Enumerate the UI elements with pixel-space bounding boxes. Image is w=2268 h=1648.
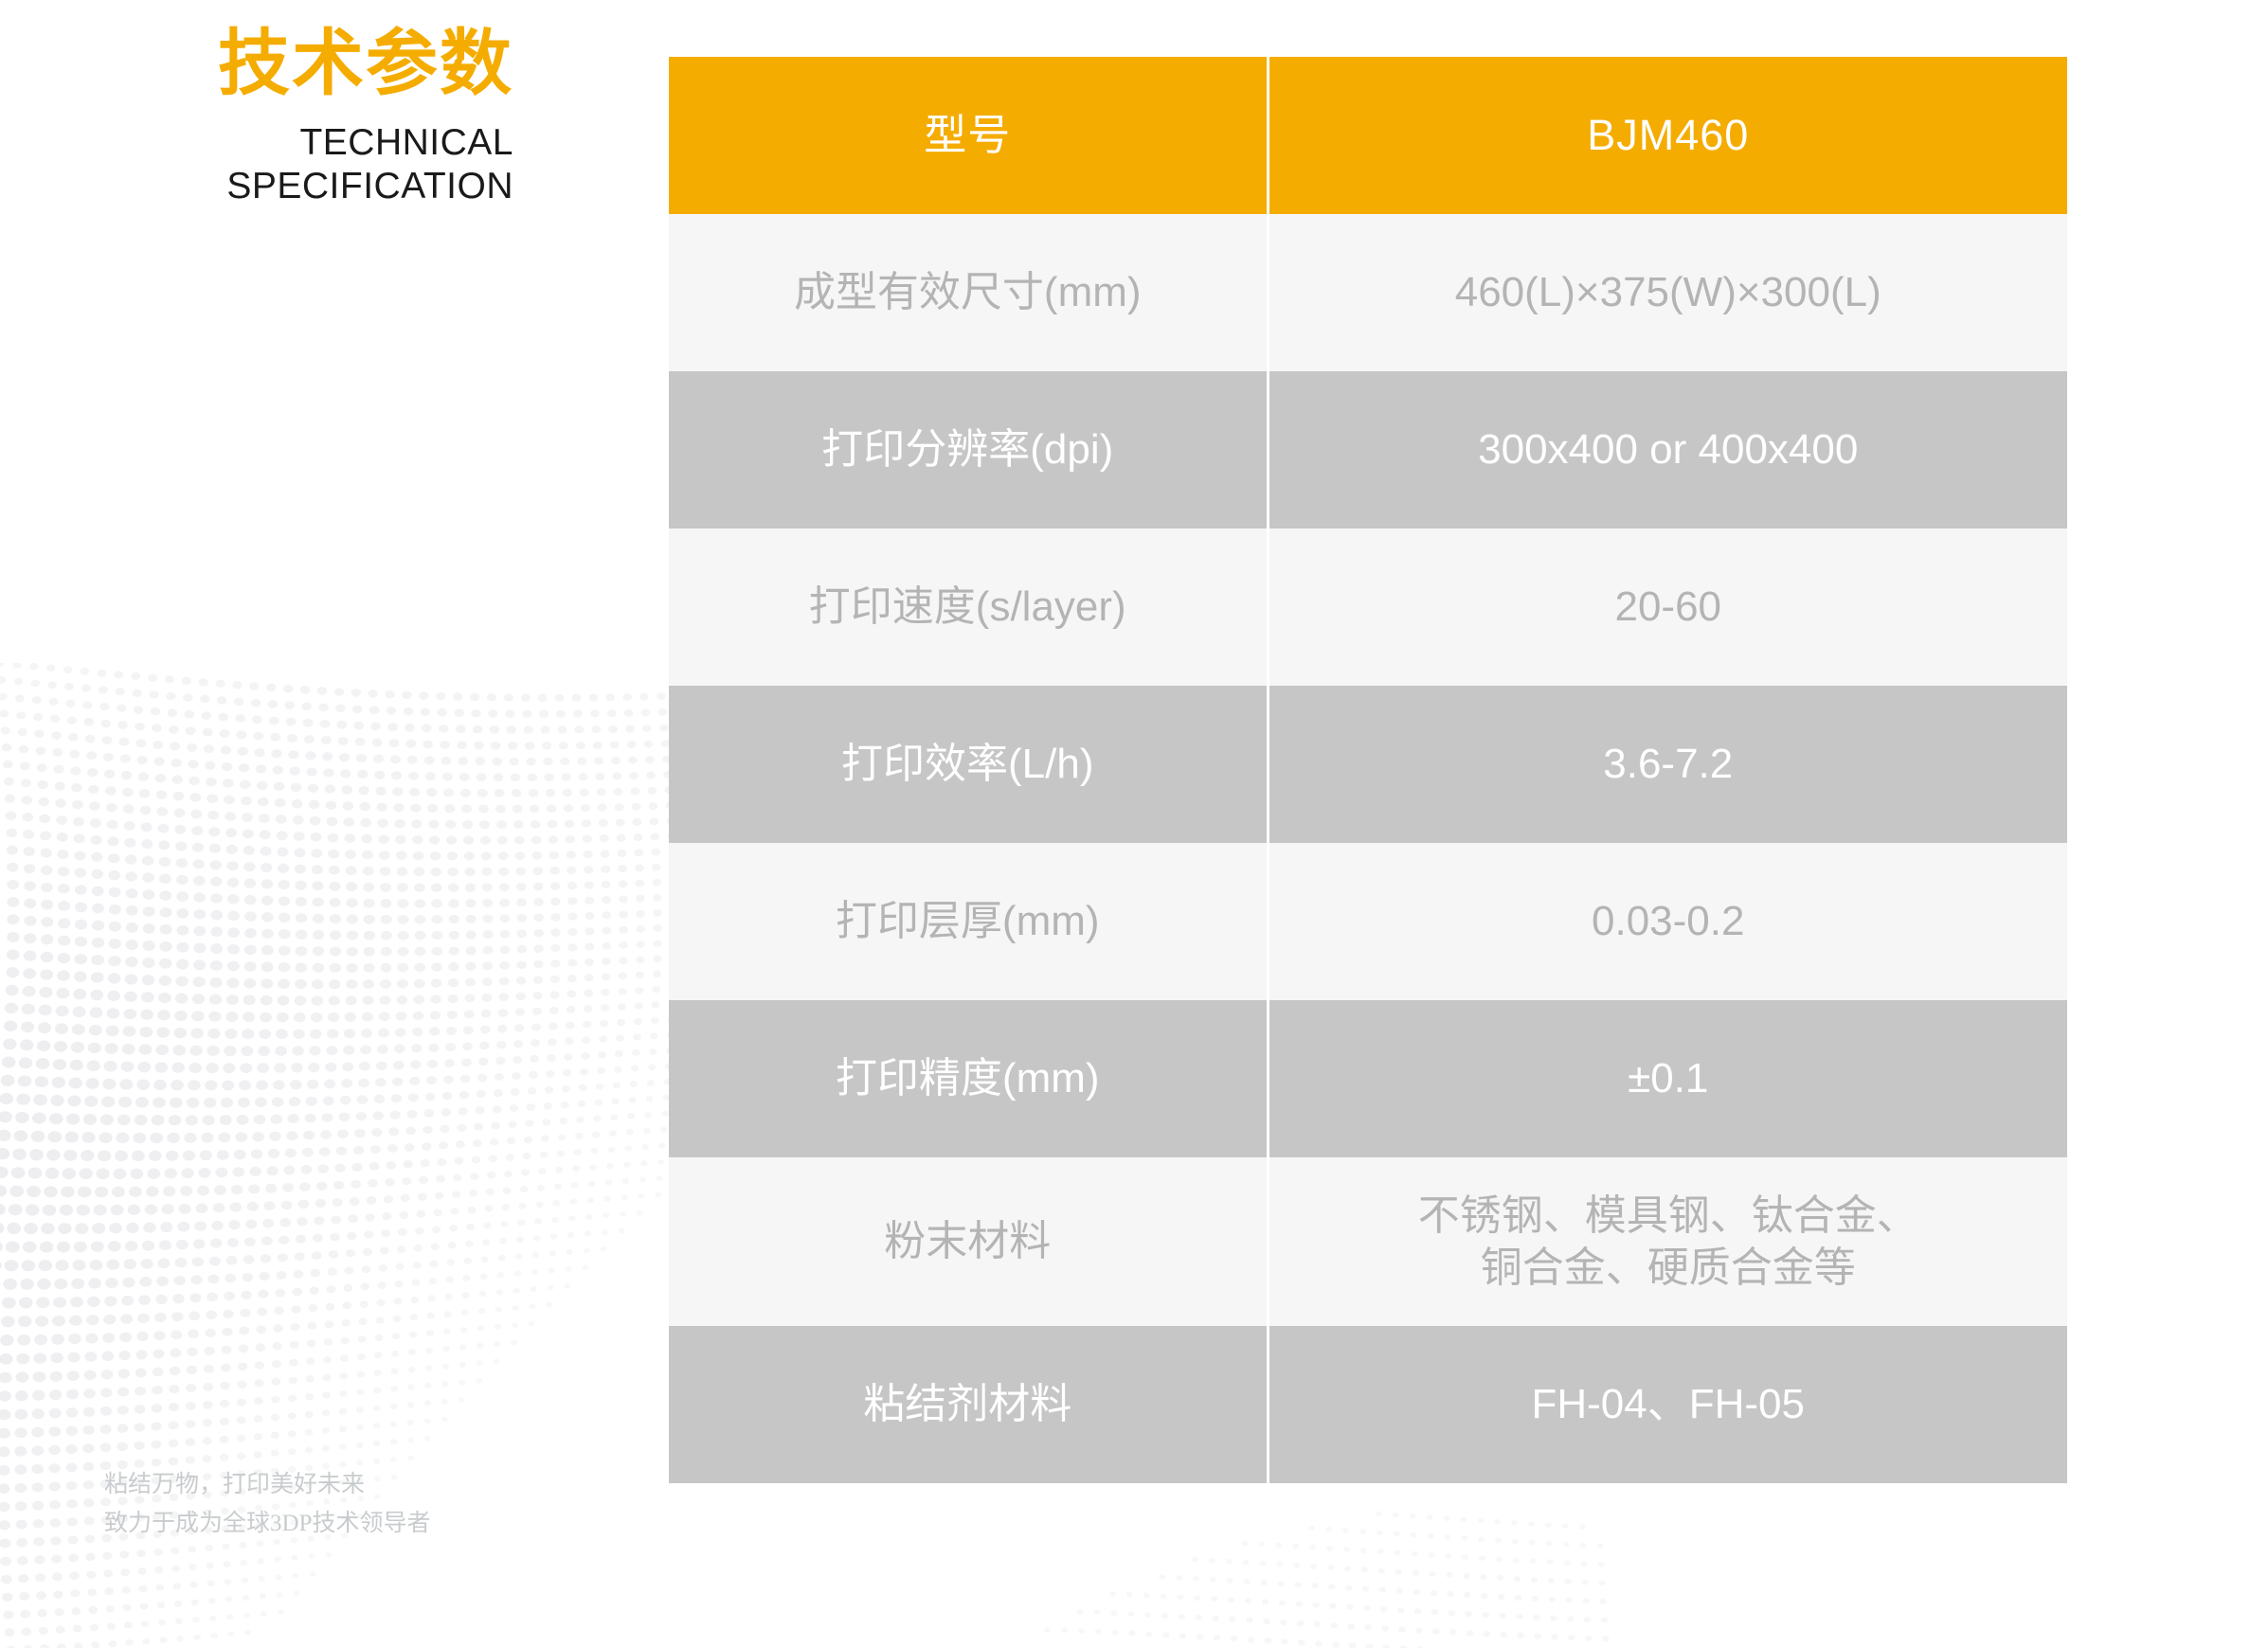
header-cell-model-label: 型号	[669, 57, 1268, 214]
table-cell-value: 460(L)×375(W)×300(L)	[1268, 214, 2067, 371]
table-row: 打印分辨率(dpi)300x400 or 400x400	[669, 371, 2067, 528]
table-row: 粉末材料不锈钢、模具钢、钛合金、铜合金、硬质合金等	[669, 1157, 2067, 1326]
table-row: 打印效率(L/h)3.6-7.2	[669, 686, 2067, 843]
table-cell-value-line: 20-60	[1283, 581, 2055, 633]
table-cell-value-line: 不锈钢、模具钢、钛合金、	[1283, 1190, 2055, 1242]
table-cell-label: 打印精度(mm)	[669, 1000, 1268, 1157]
table-cell-label: 粘结剂材料	[669, 1326, 1268, 1483]
table-row: 打印速度(s/layer)20-60	[669, 528, 2067, 686]
table-cell-value-line: ±0.1	[1283, 1052, 2055, 1104]
table-cell-value: 不锈钢、模具钢、钛合金、铜合金、硬质合金等	[1268, 1157, 2067, 1326]
table-cell-value-line: FH-04、FH-05	[1283, 1378, 2055, 1430]
technical-specification-table: 型号 BJM460 成型有效尺寸(mm)460(L)×375(W)×300(L)…	[669, 57, 2067, 1483]
table-row: 打印精度(mm)±0.1	[669, 1000, 2067, 1157]
table-cell-label: 打印效率(L/h)	[669, 686, 1268, 843]
table-cell-value: ±0.1	[1268, 1000, 2067, 1157]
table-cell-value-line: 460(L)×375(W)×300(L)	[1283, 266, 2055, 318]
table-cell-value: 3.6-7.2	[1268, 686, 2067, 843]
slogan-line-2: 致力于成为全球3DP技术领导者	[104, 1505, 430, 1544]
page-title-en-line2: SPECIFICATION	[0, 165, 513, 208]
table-cell-label: 打印分辨率(dpi)	[669, 371, 1268, 528]
page-title-cn: 技术参数	[0, 28, 513, 100]
page-title-en: TECHNICAL SPECIFICATION	[0, 121, 513, 208]
table-body: 成型有效尺寸(mm)460(L)×375(W)×300(L)打印分辨率(dpi)…	[669, 214, 2067, 1483]
table-cell-value: 300x400 or 400x400	[1268, 371, 2067, 528]
table-cell-value-line: 铜合金、硬质合金等	[1283, 1242, 2055, 1294]
table-header-row: 型号 BJM460	[669, 57, 2067, 214]
table-row: 粘结剂材料FH-04、FH-05	[669, 1326, 2067, 1483]
table-row: 打印层厚(mm)0.03-0.2	[669, 843, 2067, 1000]
table-cell-value-line: 300x400 or 400x400	[1283, 423, 2055, 475]
table-cell-value: 0.03-0.2	[1268, 843, 2067, 1000]
page-title-en-line1: TECHNICAL	[0, 121, 513, 165]
header-cell-model-value: BJM460	[1268, 57, 2067, 214]
table-cell-value-line: 0.03-0.2	[1283, 895, 2055, 947]
table-cell-label: 粉末材料	[669, 1157, 1268, 1326]
table-cell-value: FH-04、FH-05	[1268, 1326, 2067, 1483]
table-cell-label: 成型有效尺寸(mm)	[669, 214, 1268, 371]
page-heading: 技术参数 TECHNICAL SPECIFICATION	[0, 28, 531, 208]
table-cell-value: 20-60	[1268, 528, 2067, 686]
table-cell-value-line: 3.6-7.2	[1283, 738, 2055, 790]
table-row: 成型有效尺寸(mm)460(L)×375(W)×300(L)	[669, 214, 2067, 371]
slide-root: 技术参数 TECHNICAL SPECIFICATION 粘结万物，打印美好未来…	[0, 0, 2268, 1648]
slogan-watermark: 粘结万物，打印美好未来 致力于成为全球3DP技术领导者	[104, 1466, 430, 1543]
slogan-line-1: 粘结万物，打印美好未来	[104, 1466, 430, 1505]
table-cell-label: 打印层厚(mm)	[669, 843, 1268, 1000]
table-cell-label: 打印速度(s/layer)	[669, 528, 1268, 686]
